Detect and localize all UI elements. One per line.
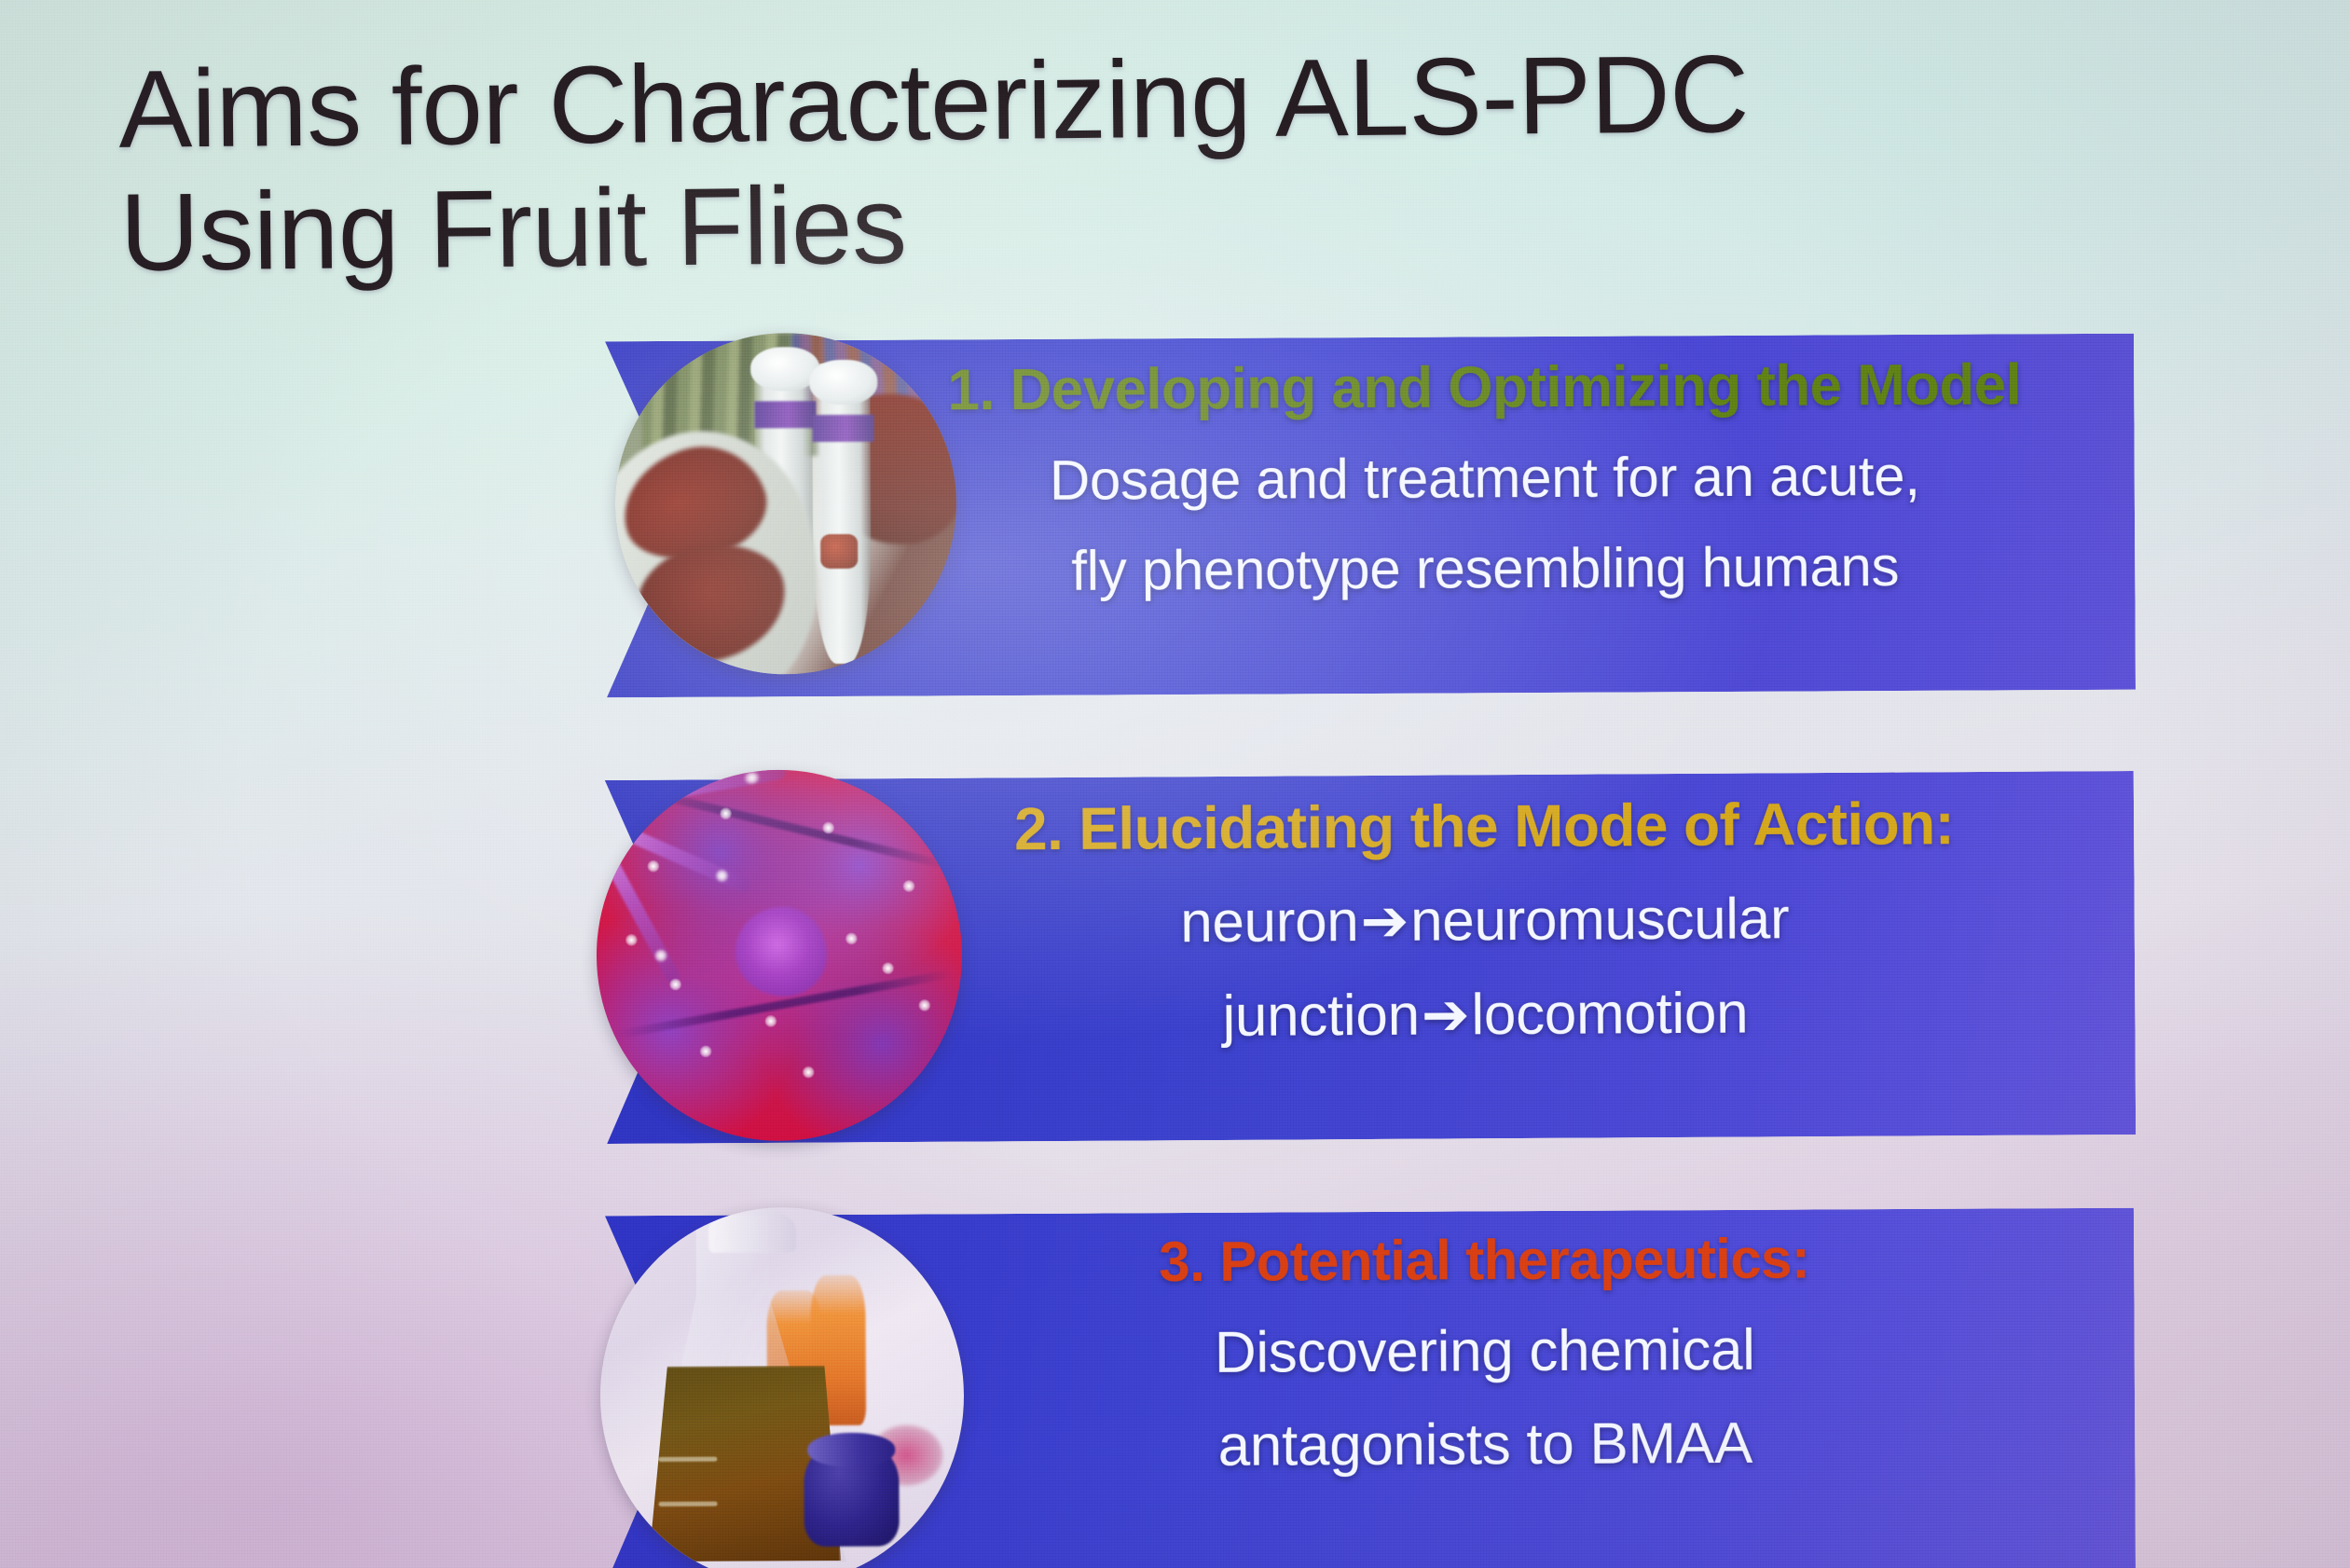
aim-body-2: neuron➔neuromuscular junction➔locomotion bbox=[1180, 872, 1790, 1065]
arrow-right-icon: ➔ bbox=[1358, 886, 1410, 954]
slide-title: Aims for Characterizing ALS-PDC Using Fr… bbox=[118, 30, 2031, 295]
presentation-slide: Aims for Characterizing ALS-PDC Using Fr… bbox=[0, 0, 2350, 1568]
test-tubes-photo bbox=[614, 332, 957, 675]
aim-heading-2: 2. Elucidating the Mode of Action: bbox=[1014, 789, 1955, 865]
aim-row-3: 3. Potential therapeutics: Discovering c… bbox=[605, 1208, 2136, 1568]
aim-body-2-line-2: junction➔locomotion bbox=[1181, 966, 1791, 1064]
aim-row-2: 2. Elucidating the Mode of Action: neuro… bbox=[605, 771, 2136, 1144]
junction-label: junction bbox=[1222, 983, 1420, 1049]
aim-body-3: Discovering chemical antagonists to BMAA bbox=[1215, 1304, 1756, 1494]
beaker-photo bbox=[599, 1206, 965, 1568]
aim-heading-1: 1. Developing and Optimizing the Model bbox=[947, 351, 2021, 424]
neuron-photo bbox=[596, 769, 963, 1142]
aim-heading-3: 3. Potential therapeutics: bbox=[1159, 1227, 1809, 1296]
aim-body-3-line-2: antagonists to BMAA bbox=[1215, 1397, 1755, 1493]
aim-body-2-line-1: neuron➔neuromuscular bbox=[1180, 872, 1790, 970]
slide-title-line-2: Using Fruit Flies bbox=[119, 153, 2031, 295]
locomotion-label: locomotion bbox=[1471, 981, 1748, 1047]
arrow-right-icon: ➔ bbox=[1420, 980, 1472, 1048]
aim-body-3-line-1: Discovering chemical bbox=[1215, 1304, 1755, 1400]
aim-body-1-line-1: Dosage and treatment for an acute, bbox=[1050, 431, 1920, 526]
aim-body-1-line-2: fly phenotype resembling humans bbox=[1050, 521, 1920, 616]
aim-row-1: 1. Developing and Optimizing the Model D… bbox=[605, 334, 2136, 698]
neuromuscular-label: neuromuscular bbox=[1410, 887, 1790, 953]
slide-title-line-1: Aims for Characterizing ALS-PDC bbox=[118, 30, 2030, 172]
aim-body-1: Dosage and treatment for an acute, fly p… bbox=[1050, 431, 1921, 616]
neuron-label: neuron bbox=[1180, 889, 1359, 955]
